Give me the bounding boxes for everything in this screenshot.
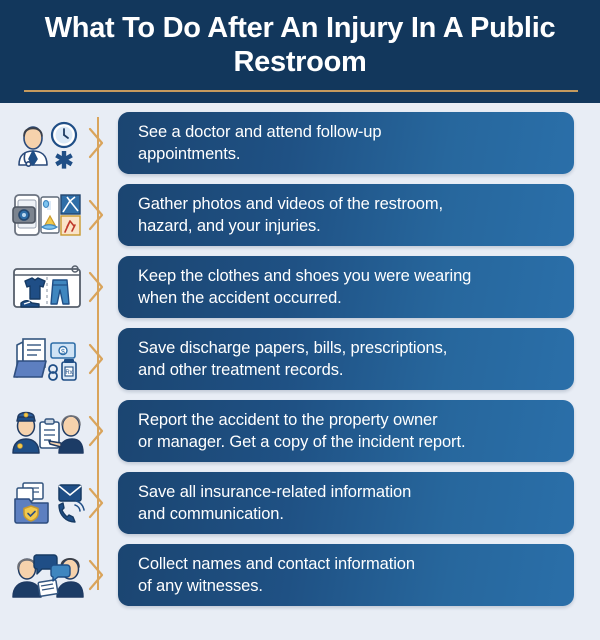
witnesses-conversation-notes-icon	[0, 544, 85, 606]
chevron-right-icon	[85, 472, 118, 534]
list-item: Report the accident to the property owne…	[0, 400, 600, 462]
step-text: Gather photos and videos of the restroom…	[138, 193, 443, 237]
step-card: Save discharge papers, bills, prescripti…	[118, 328, 574, 390]
list-item: See a doctor and attend follow-up appoin…	[0, 112, 600, 174]
step-card: Keep the clothes and shoes you were wear…	[118, 256, 574, 318]
list-item: Collect names and contact information of…	[0, 544, 600, 606]
clothing-bag-shirt-jeans-shoes-icon	[0, 256, 85, 318]
infographic-page: What To Do After An Injury In A Public R…	[0, 0, 600, 640]
chevron-right-icon	[85, 256, 118, 318]
steps-list: See a doctor and attend follow-up appoin…	[0, 103, 600, 606]
page-title: What To Do After An Injury In A Public R…	[0, 11, 600, 79]
medical-records-folder-money-pills-icon: $ Rx	[0, 328, 85, 390]
list-item: Keep the clothes and shoes you were wear…	[0, 256, 600, 318]
phone-camera-evidence-photos-icon	[0, 184, 85, 246]
list-item: Gather photos and videos of the restroom…	[0, 184, 600, 246]
svg-text:Rx: Rx	[65, 370, 72, 376]
chevron-right-icon	[85, 400, 118, 462]
list-item: $ Rx Save discharge papers, bills, presc…	[0, 328, 600, 390]
step-card: Collect names and contact information of…	[118, 544, 574, 606]
step-text: Save discharge papers, bills, prescripti…	[138, 337, 447, 381]
step-text: See a doctor and attend follow-up appoin…	[138, 121, 381, 165]
step-text: Keep the clothes and shoes you were wear…	[138, 265, 471, 309]
step-card: See a doctor and attend follow-up appoin…	[118, 112, 574, 174]
step-text: Save all insurance-related information a…	[138, 481, 411, 525]
step-text: Collect names and contact information of…	[138, 553, 415, 597]
insurance-folder-shield-mail-phone-icon	[0, 472, 85, 534]
step-card: Report the accident to the property owne…	[118, 400, 574, 462]
officer-clipboard-incident-report-icon	[0, 400, 85, 462]
chevron-right-icon	[85, 328, 118, 390]
svg-text:$: $	[61, 349, 65, 356]
step-card: Save all insurance-related information a…	[118, 472, 574, 534]
list-item: Save all insurance-related information a…	[0, 472, 600, 534]
header-divider-rule	[24, 90, 578, 92]
step-card: Gather photos and videos of the restroom…	[118, 184, 574, 246]
step-text: Report the accident to the property owne…	[138, 409, 465, 453]
chevron-right-icon	[85, 112, 118, 174]
header-banner: What To Do After An Injury In A Public R…	[0, 0, 600, 103]
chevron-right-icon	[85, 544, 118, 606]
chevron-right-icon	[85, 184, 118, 246]
doctor-clock-medical-icon	[0, 112, 85, 174]
